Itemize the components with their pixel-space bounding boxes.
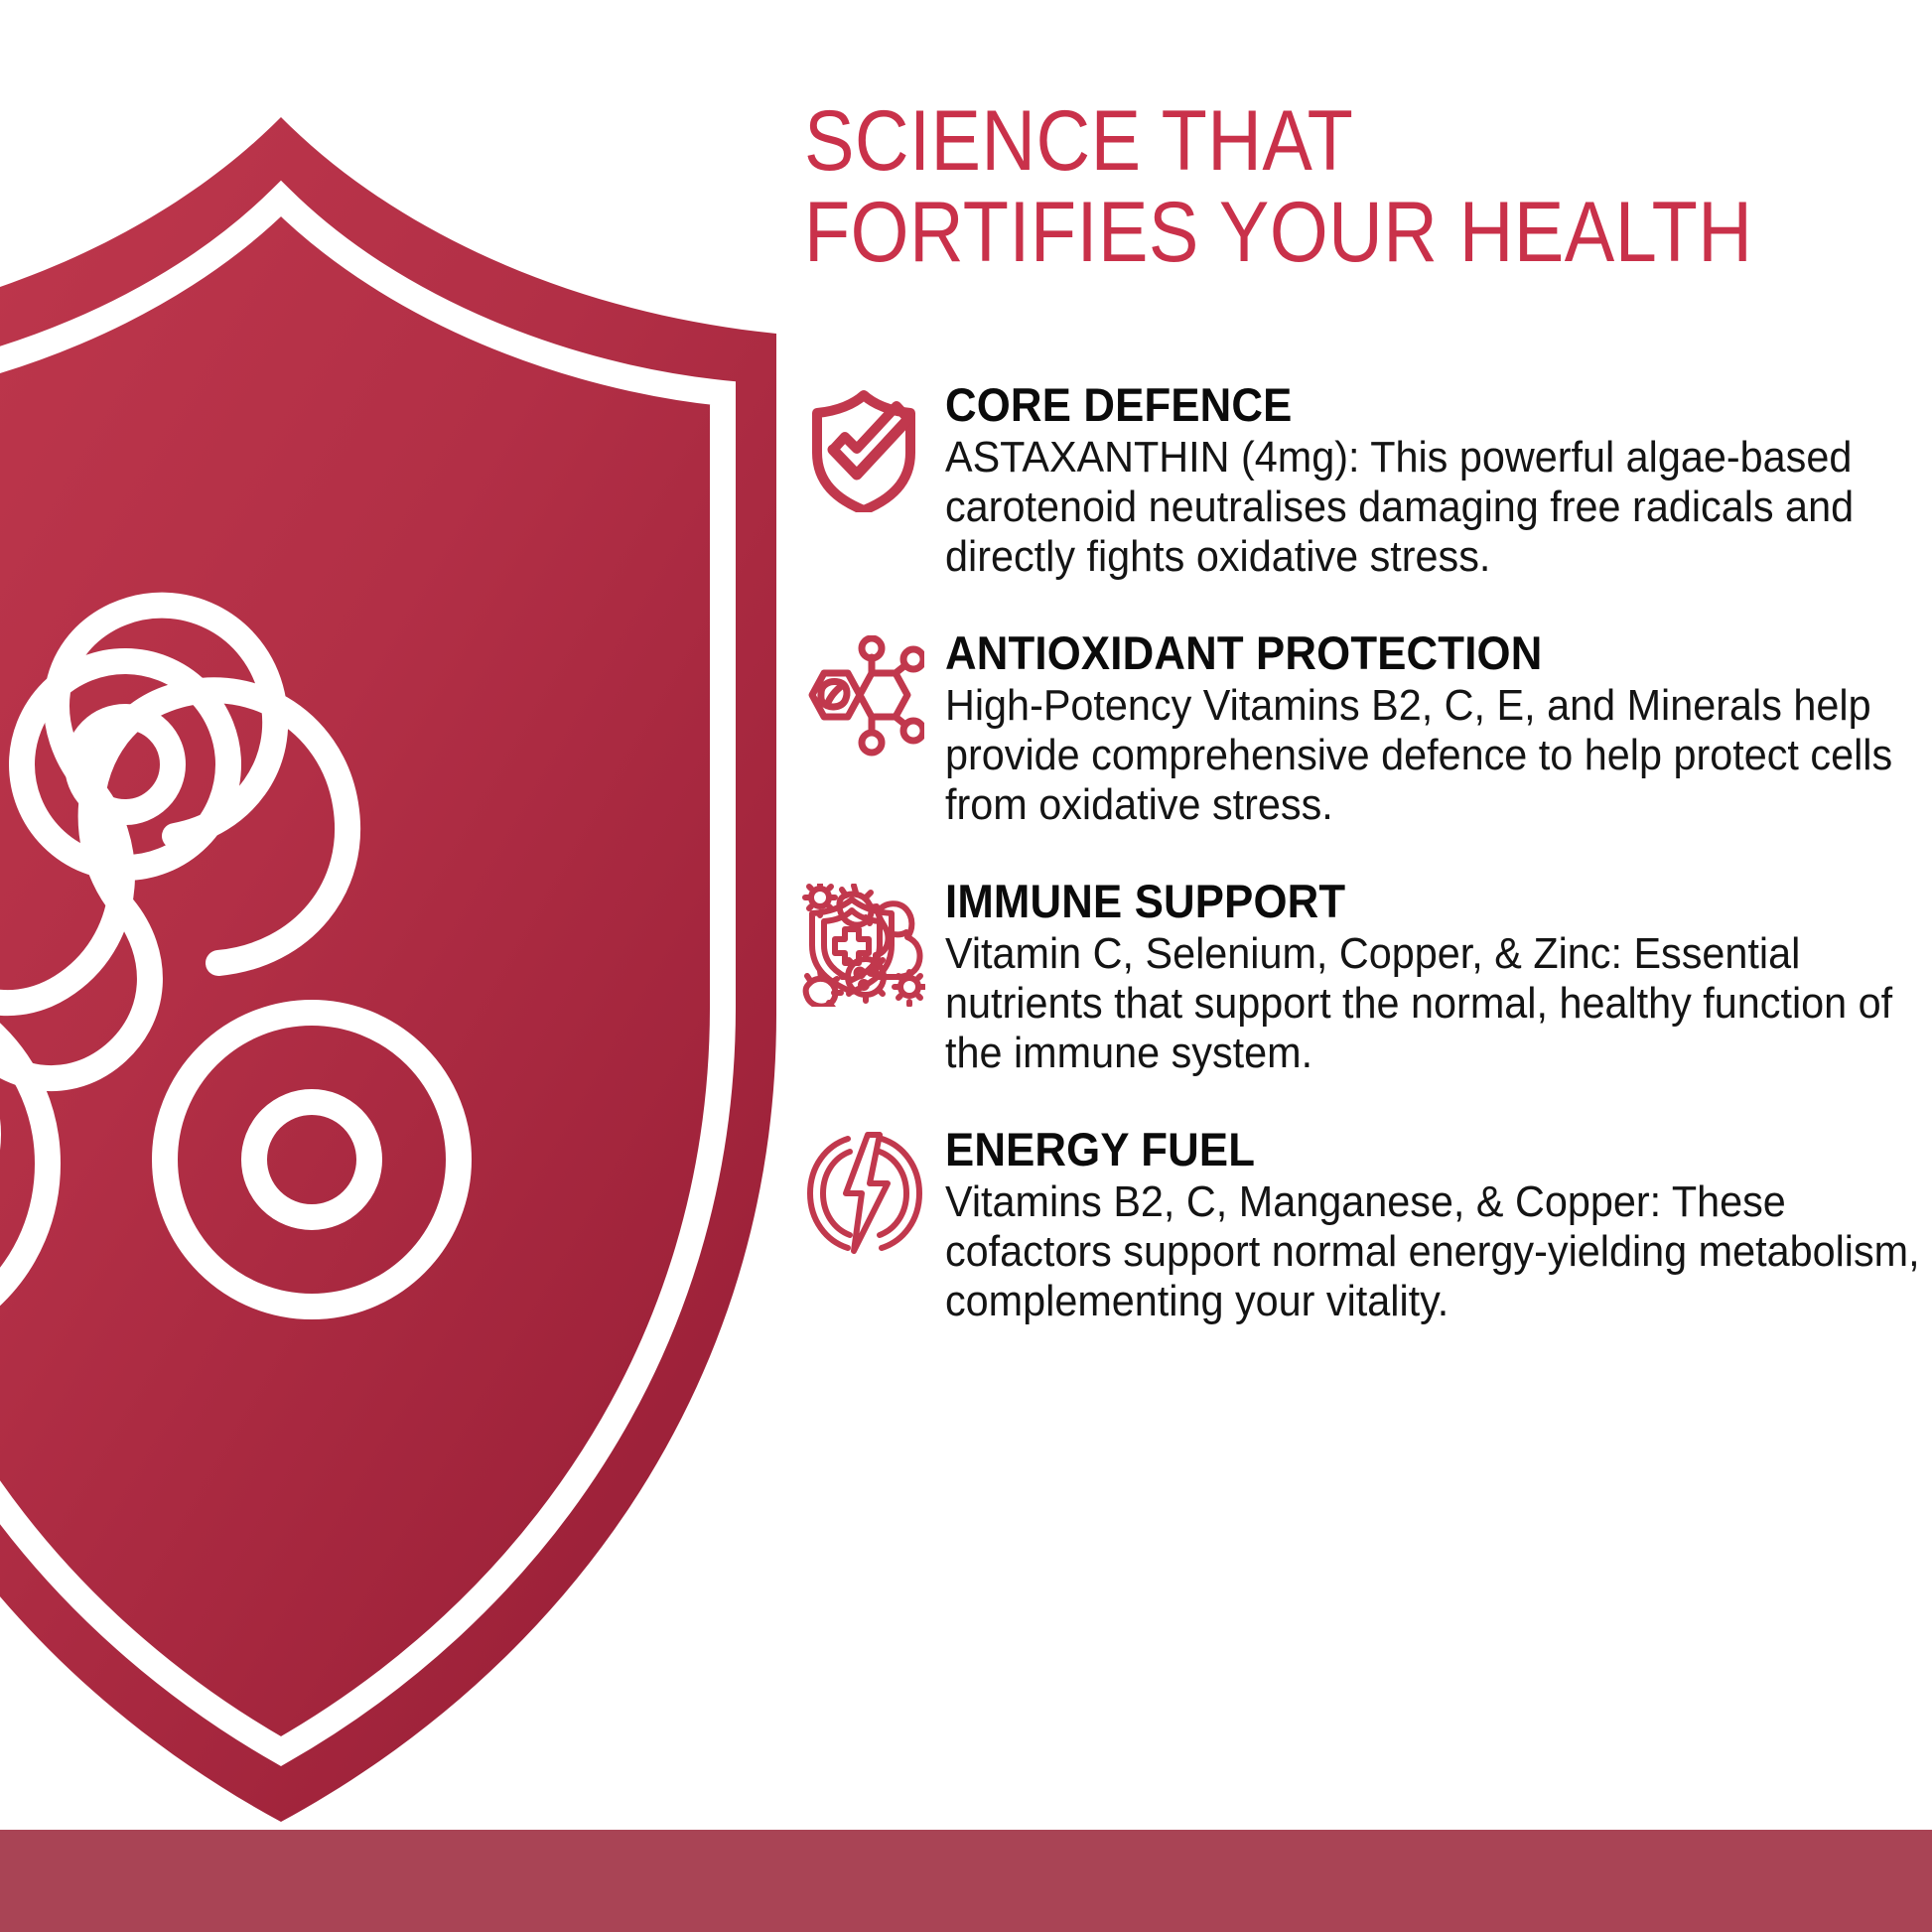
feature-text-immune-support: IMMUNE SUPPORT Vitamin C, Selenium, Copp… bbox=[927, 876, 1932, 1078]
feature-text-core-defence: CORE DEFENCE ASTAXANTHIN (4mg): This pow… bbox=[927, 379, 1932, 582]
feature-text-energy-fuel: ENERGY FUEL Vitamins B2, C, Manganese, &… bbox=[927, 1124, 1932, 1326]
feature-body: Vitamin C, Selenium, Copper, & Zinc: Ess… bbox=[945, 929, 1924, 1078]
feature-heading: IMMUNE SUPPORT bbox=[945, 876, 1860, 927]
feature-item-energy-fuel: ENERGY FUEL Vitamins B2, C, Manganese, &… bbox=[800, 1124, 1932, 1326]
feature-heading: CORE DEFENCE bbox=[945, 379, 1860, 431]
feature-body: High-Potency Vitamins B2, C, E, and Mine… bbox=[945, 681, 1924, 830]
feature-item-antioxidant-protection: ANTIOXIDANT PROTECTION High-Potency Vita… bbox=[800, 627, 1932, 830]
feature-text-antioxidant-protection: ANTIOXIDANT PROTECTION High-Potency Vita… bbox=[927, 627, 1932, 830]
lightning-bolt-energy-icon bbox=[800, 1124, 927, 1273]
bottom-accent-bar bbox=[0, 1830, 1932, 1932]
antioxidant-molecule-leaf-icon bbox=[800, 627, 927, 776]
feature-item-immune-support: IMMUNE SUPPORT Vitamin C, Selenium, Copp… bbox=[800, 876, 1932, 1078]
feature-heading: ENERGY FUEL bbox=[945, 1124, 1860, 1175]
feature-body: ASTAXANTHIN (4mg): This powerful algae-b… bbox=[945, 433, 1924, 582]
shield-check-icon bbox=[800, 379, 927, 528]
page-title: SCIENCE THAT FORTIFIES YOUR HEALTH bbox=[804, 95, 1797, 278]
feature-heading: ANTIOXIDANT PROTECTION bbox=[945, 627, 1860, 679]
feature-body: Vitamins B2, C, Manganese, & Copper: The… bbox=[945, 1177, 1924, 1326]
shield-artwork bbox=[0, 103, 822, 1836]
content-column: SCIENCE THAT FORTIFIES YOUR HEALTH CORE … bbox=[800, 0, 1932, 1830]
feature-item-core-defence: CORE DEFENCE ASTAXANTHIN (4mg): This pow… bbox=[800, 379, 1932, 582]
immune-shield-bicep-virus-icon bbox=[800, 876, 927, 1025]
feature-list: CORE DEFENCE ASTAXANTHIN (4mg): This pow… bbox=[800, 379, 1932, 1372]
